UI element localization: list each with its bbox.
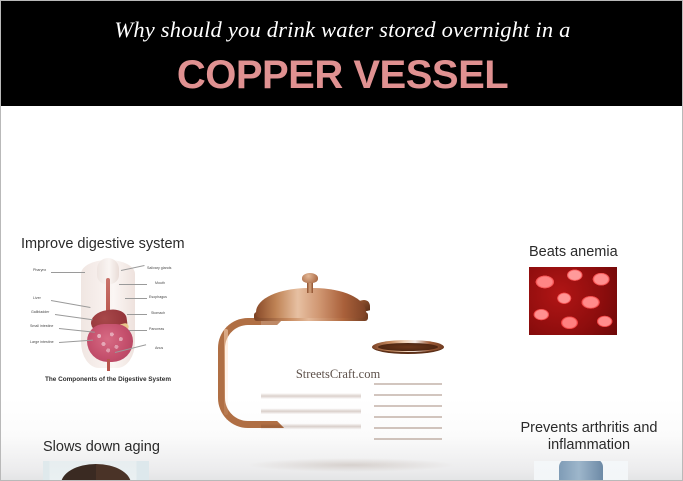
diagram-label-liver: Liver <box>33 296 41 300</box>
header-banner: Why should you drink water stored overni… <box>1 1 683 106</box>
skin-aging-image <box>43 461 149 481</box>
diagram-label-mouth: Mouth <box>155 281 165 285</box>
intestine-shape <box>87 324 133 362</box>
callout-line <box>125 298 147 299</box>
jug-body-sheen <box>261 314 361 466</box>
tumbler-ribbing <box>374 344 442 466</box>
diagram-label-large-intestine: Large intestine <box>30 340 54 344</box>
callout-line <box>119 284 147 285</box>
callout-line <box>51 272 85 273</box>
knee-pain-image <box>534 461 628 481</box>
copper-vessel-image: StreetsCraft.com <box>206 256 456 481</box>
diagram-label-pharynx: Pharynx <box>33 268 46 272</box>
thigh-shape <box>559 461 603 481</box>
diagram-label-small-intestine: Small intestine <box>30 324 53 328</box>
callout-line <box>127 314 147 315</box>
copper-jug-body <box>261 314 361 466</box>
benefit-label-anemia: Beats anemia <box>529 244 618 261</box>
digestive-diagram-caption: The Components of the Digestive System <box>29 376 187 383</box>
callout-line <box>129 330 147 331</box>
benefit-label-digestive: Improve digestive system <box>21 236 185 253</box>
diagram-label-stomach: Stomach <box>151 311 165 315</box>
digestive-system-image: Pharynx Liver Gallbladder Small intestin… <box>29 258 187 386</box>
red-blood-cells-image <box>529 267 617 335</box>
page-title: COPPER VESSEL <box>1 53 683 98</box>
content-area: Improve digestive system Beats anemia Sl… <box>1 106 683 481</box>
tumbler-inner <box>378 343 438 351</box>
watermark-text: StreetsCraft.com <box>268 367 408 382</box>
rectum-shape <box>107 359 110 371</box>
diagram-label-pancreas: Pancreas <box>149 327 164 331</box>
header-subtitle: Why should you drink water stored overni… <box>1 17 683 43</box>
diagram-label-anus: Anus <box>155 346 163 350</box>
benefit-label-arthritis: Prevents arthritis and inflammation <box>509 420 669 454</box>
benefit-label-aging: Slows down aging <box>43 439 160 456</box>
jug-lid-knob <box>302 273 318 283</box>
diagram-label-salivary-glands: Salivary glands <box>147 266 171 270</box>
diagram-label-esophagus: Esophagus <box>149 295 167 299</box>
diagram-label-gallbladder: Gallbladder <box>31 310 49 314</box>
hair <box>61 464 131 481</box>
infographic-page: Why should you drink water stored overni… <box>0 0 683 481</box>
copper-tumbler-body <box>374 344 442 466</box>
